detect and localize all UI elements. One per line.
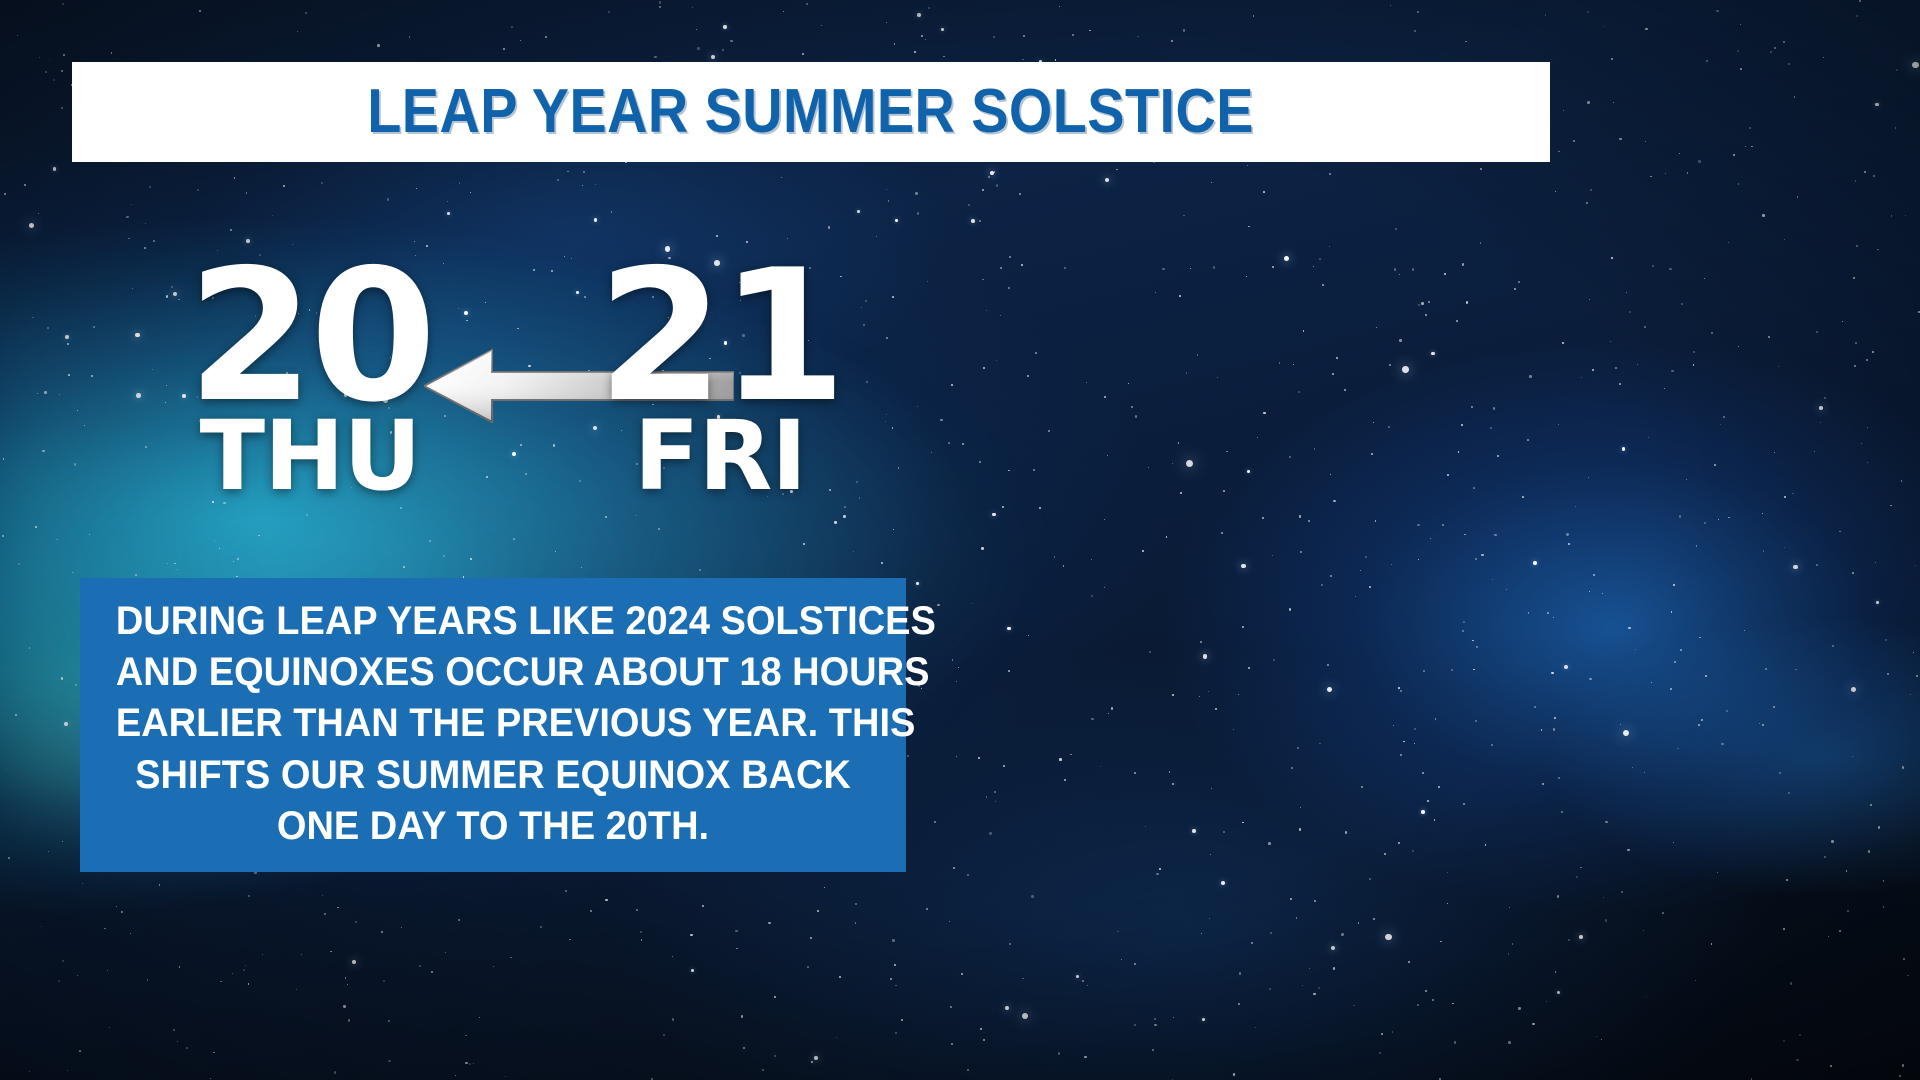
info-line: AND EQUINOXES OCCUR ABOUT 18 HOURS [116,647,870,698]
date-number-left: 20 [150,258,470,415]
graphic-canvas: LEAP YEAR SUMMER SOLSTICE 20 THU [0,0,1920,1080]
star-field [0,0,1920,1080]
info-text-box: DURING LEAP YEARS LIKE 2024 SOLSTICES AN… [80,578,906,872]
info-line: EARLIER THAN THE PREVIOUS YEAR. THIS [116,698,870,749]
title-banner: LEAP YEAR SUMMER SOLSTICE [72,62,1550,162]
info-line: DURING LEAP YEARS LIKE 2024 SOLSTICES [116,596,870,647]
page-title: LEAP YEAR SUMMER SOLSTICE [368,81,1255,143]
date-block-right: 21 FRI [580,258,860,502]
info-line: SHIFTS OUR SUMMER EQUINOX BACK [116,750,870,801]
date-number-right: 21 [580,258,860,415]
info-line: ONE DAY TO THE 20TH. [116,801,870,852]
date-block-left: 20 THU [150,258,470,502]
